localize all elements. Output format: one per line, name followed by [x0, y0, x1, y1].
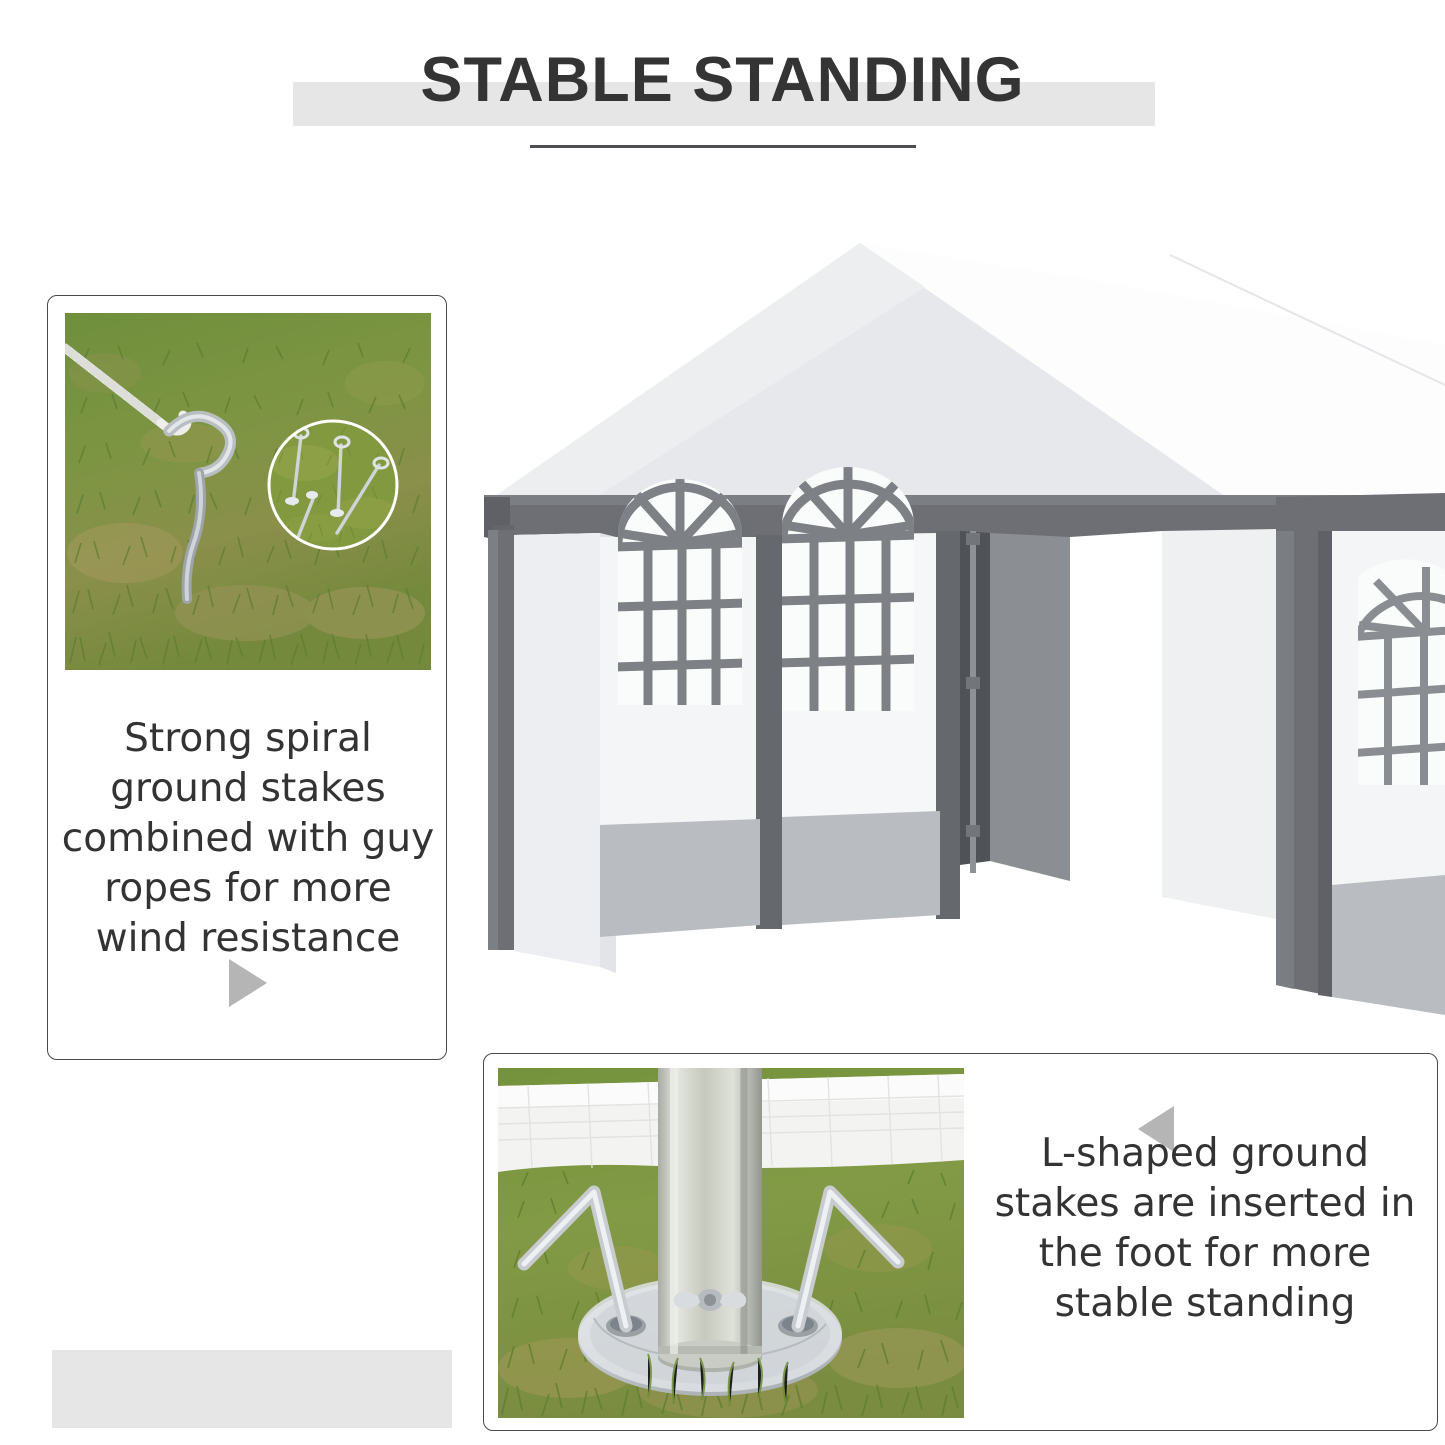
gazebo-pole — [658, 1068, 762, 1372]
gazebo-window-right — [1350, 545, 1445, 817]
product-illustration-gazebo — [470, 225, 1445, 1025]
next-arrow[interactable] — [48, 959, 448, 1011]
feature-caption-l-stakes-foot: L-shaped ground stakes are inserted in t… — [989, 1129, 1421, 1329]
wing-nut — [674, 1289, 746, 1311]
gazebo-corner-post-right — [1276, 527, 1332, 997]
bottom-decorative-band — [52, 1350, 452, 1428]
feature-card-l-stakes-foot: L-shaped ground stakes are inserted in t… — [483, 1053, 1438, 1431]
triangle-right-icon — [229, 959, 267, 1007]
gazebo-window-center — [775, 455, 925, 727]
photo-spiral-ground-stake-in-grass — [65, 313, 431, 670]
gazebo-eave-beam-right — [1276, 493, 1445, 531]
photo-pole-foot-plate-with-l-stakes — [498, 1068, 964, 1418]
feature-caption-spiral-stakes: Strong spiral ground stakes combined wit… — [56, 714, 440, 964]
page-title: STABLE STANDING — [0, 44, 1445, 116]
feature-card-spiral-stakes: Strong spiral ground stakes combined wit… — [47, 295, 447, 1060]
gazebo-open-doorway — [960, 531, 1162, 897]
gazebo-roof — [488, 233, 1445, 503]
title-underline-rule — [530, 145, 916, 148]
stakes-inset-circle — [269, 419, 397, 549]
gazebo-back-wall-panel — [1162, 529, 1276, 919]
